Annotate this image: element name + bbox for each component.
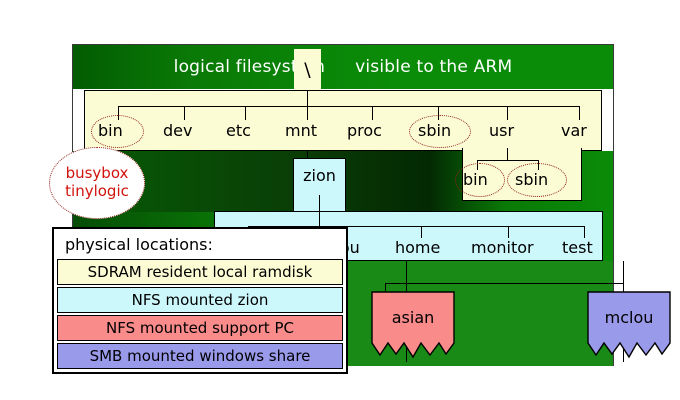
usr-bus-line: [477, 160, 538, 161]
circle-sbin-busybox: [409, 115, 471, 148]
legend-title: physical locations:: [57, 232, 343, 257]
drop-host-asian: [385, 283, 386, 291]
node-usr: usr: [489, 121, 514, 140]
drop-test: [584, 226, 585, 238]
drop-home: [421, 226, 422, 238]
node-zion-home: home: [395, 238, 440, 257]
diagram-title: logical filesystem visible to the ARM: [73, 45, 613, 89]
title-right-text: visible to the ARM: [355, 57, 512, 77]
zion-trunk-line: [319, 195, 320, 212]
node-zion-test: test: [562, 238, 593, 257]
node-proc: proc: [347, 121, 382, 140]
drop-etc: [245, 106, 246, 120]
host-asian-label: asian: [371, 308, 455, 327]
usr-trunk-line: [507, 148, 508, 160]
busybox-line-1: busybox: [66, 165, 129, 183]
drop-proc: [372, 106, 373, 120]
legend-row-nfs-zion: NFS mounted zion: [57, 287, 343, 313]
drop-var: [579, 106, 580, 120]
host-mclou-label: mclou: [587, 308, 671, 327]
legend-row-smb-share: SMB mounted windows share: [57, 343, 343, 369]
drop-mnt: [307, 106, 308, 120]
root-bus-line: [118, 106, 579, 107]
legend-panel: physical locations: SDRAM resident local…: [52, 227, 348, 374]
node-etc: etc: [226, 121, 251, 140]
drop-dev: [184, 106, 185, 120]
drop-usr: [507, 106, 508, 120]
host-asian: asian: [371, 291, 455, 361]
circle-bin-busybox: [91, 115, 144, 148]
circle-usr-sbin: [507, 163, 567, 197]
drop-monitor: [508, 226, 509, 238]
root-trunk-line: [307, 90, 308, 106]
diagram-canvas: logical filesystem visible to the ARM \ …: [0, 0, 680, 400]
legend-row-ramdisk: SDRAM resident local ramdisk: [57, 259, 343, 285]
zion-bus-stem: [319, 212, 320, 226]
node-dev: dev: [163, 121, 192, 140]
ramdisk-level-bar: [84, 90, 602, 151]
hosts-bus-line: [385, 283, 623, 284]
root-node: \: [294, 49, 321, 90]
node-mnt: mnt: [285, 121, 317, 140]
node-var: var: [561, 121, 587, 140]
busybox-line-2: tinylogic: [65, 183, 129, 201]
host-mclou: mclou: [587, 291, 671, 361]
node-zion-monitor: monitor: [471, 238, 534, 257]
legend-row-nfs-support-pc: NFS mounted support PC: [57, 315, 343, 341]
busybox-annotation: busybox tinylogic: [49, 147, 145, 219]
circle-usr-bin: [455, 163, 505, 197]
